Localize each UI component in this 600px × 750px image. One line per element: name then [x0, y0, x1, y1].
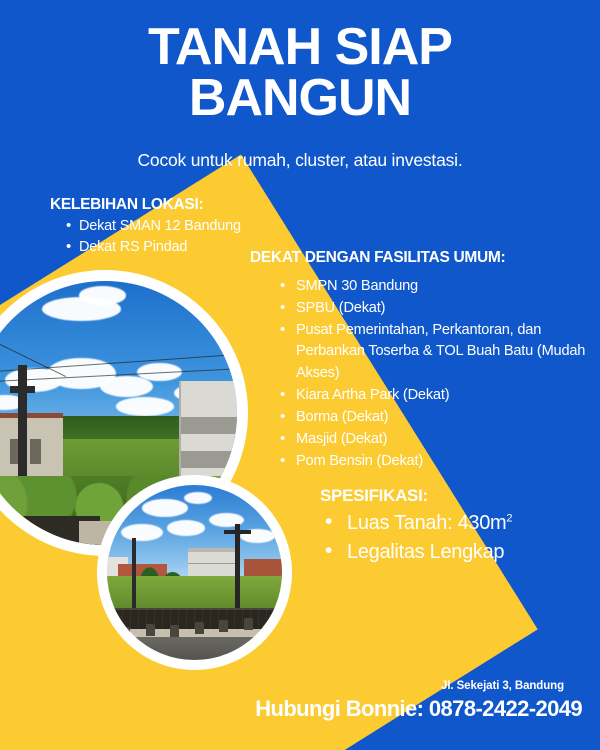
list-item-legalitas: Legalitas Lengkap [325, 538, 590, 567]
spesifikasi-list: Luas Tanah: 430m2 Legalitas Lengkap [320, 509, 590, 567]
page-title: TANAH SIAP BANGUN [0, 22, 600, 124]
footer-contact: Jl. Sekejati 3, Bandung Hubungi Bonnie: … [0, 680, 582, 722]
square-meter-superscript: 2 [506, 512, 512, 524]
contact-phone[interactable]: Hubungi Bonnie: 0878-2422-2049 [0, 696, 582, 722]
title-line-1: TANAH SIAP [0, 22, 600, 73]
list-item: Borma (Dekat) [280, 407, 590, 428]
list-item: SMPN 30 Bandung [280, 276, 590, 297]
spesifikasi-heading: SPESIFIKASI: [320, 486, 590, 506]
photo-roadside-lot-image [107, 485, 282, 660]
fasilitas-heading: DEKAT DENGAN FASILITAS UMUM: [250, 249, 590, 267]
list-item: Pusat Pemerintahan, Perkantoran, dan Per… [280, 320, 590, 383]
list-item-luas-tanah: Luas Tanah: 430m2 [325, 509, 590, 538]
list-item: Kiara Artha Park (Dekat) [280, 385, 590, 406]
house-left [0, 413, 63, 476]
fasilitas-list: SMPN 30 Bandung SPBU (Dekat) Pusat Pemer… [250, 276, 590, 472]
utility-pole [18, 365, 27, 492]
photo-roadside-lot [97, 475, 292, 670]
poster-canvas: TANAH SIAP BANGUN Cocok untuk rumah, clu… [0, 0, 600, 750]
section-fasilitas-umum: DEKAT DENGAN FASILITAS UMUM: SMPN 30 Ban… [250, 249, 590, 473]
subtitle: Cocok untuk rumah, cluster, atau investa… [0, 150, 600, 171]
house-two-storey [188, 548, 241, 576]
house-right [179, 381, 237, 487]
kelebihan-heading: KELEBIHAN LOKASI: [50, 196, 310, 214]
asphalt-road [107, 637, 282, 660]
section-spesifikasi: SPESIFIKASI: Luas Tanah: 430m2 Legalitas… [320, 486, 590, 567]
list-item: Masjid (Dekat) [280, 429, 590, 450]
title-line-2: BANGUN [0, 73, 600, 124]
list-item: Dekat SMAN 12 Bandung [66, 216, 310, 237]
list-item: SPBU (Dekat) [280, 298, 590, 319]
address-text: Jl. Sekejati 3, Bandung [0, 680, 582, 692]
luas-tanah-value: Luas Tanah: 430m [347, 512, 506, 534]
list-item: Pom Bensin (Dekat) [280, 451, 590, 472]
